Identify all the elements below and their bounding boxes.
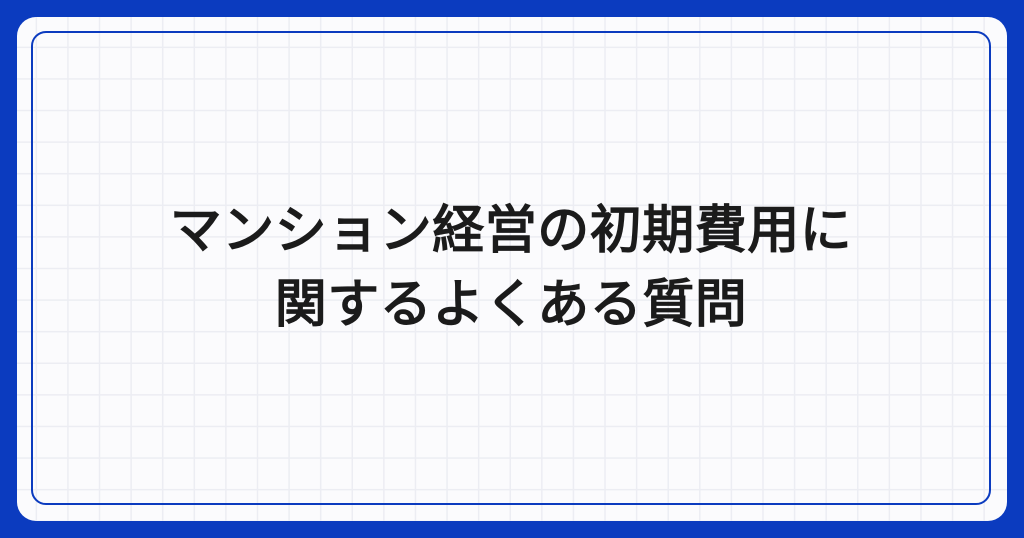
headline-block: マンション経営の初期費用に 関するよくある質問 (31, 31, 991, 505)
headline-line-1: マンション経営の初期費用に (170, 194, 853, 268)
headline-line-2: 関するよくある質問 (275, 268, 748, 342)
banner-canvas: マンション経営の初期費用に 関するよくある質問 (0, 0, 1024, 538)
